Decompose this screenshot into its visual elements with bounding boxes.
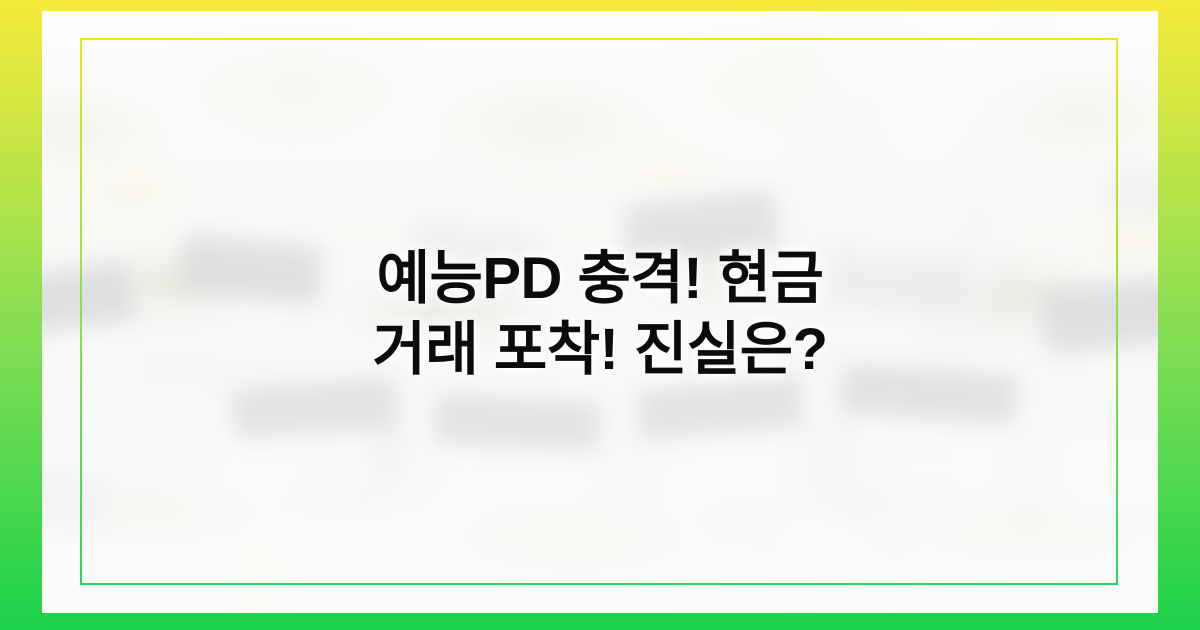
aerial-neighborhood-scene: [42, 11, 1158, 613]
photo-roads-layer: [42, 11, 1158, 613]
house-wall: [1054, 423, 1158, 511]
thumbnail-card: 예능PD 충격! 현금 거래 포착! 진실은?: [0, 0, 1200, 630]
house-roof: [434, 394, 601, 453]
background-photo: [42, 11, 1158, 613]
house-wall: [42, 322, 133, 382]
